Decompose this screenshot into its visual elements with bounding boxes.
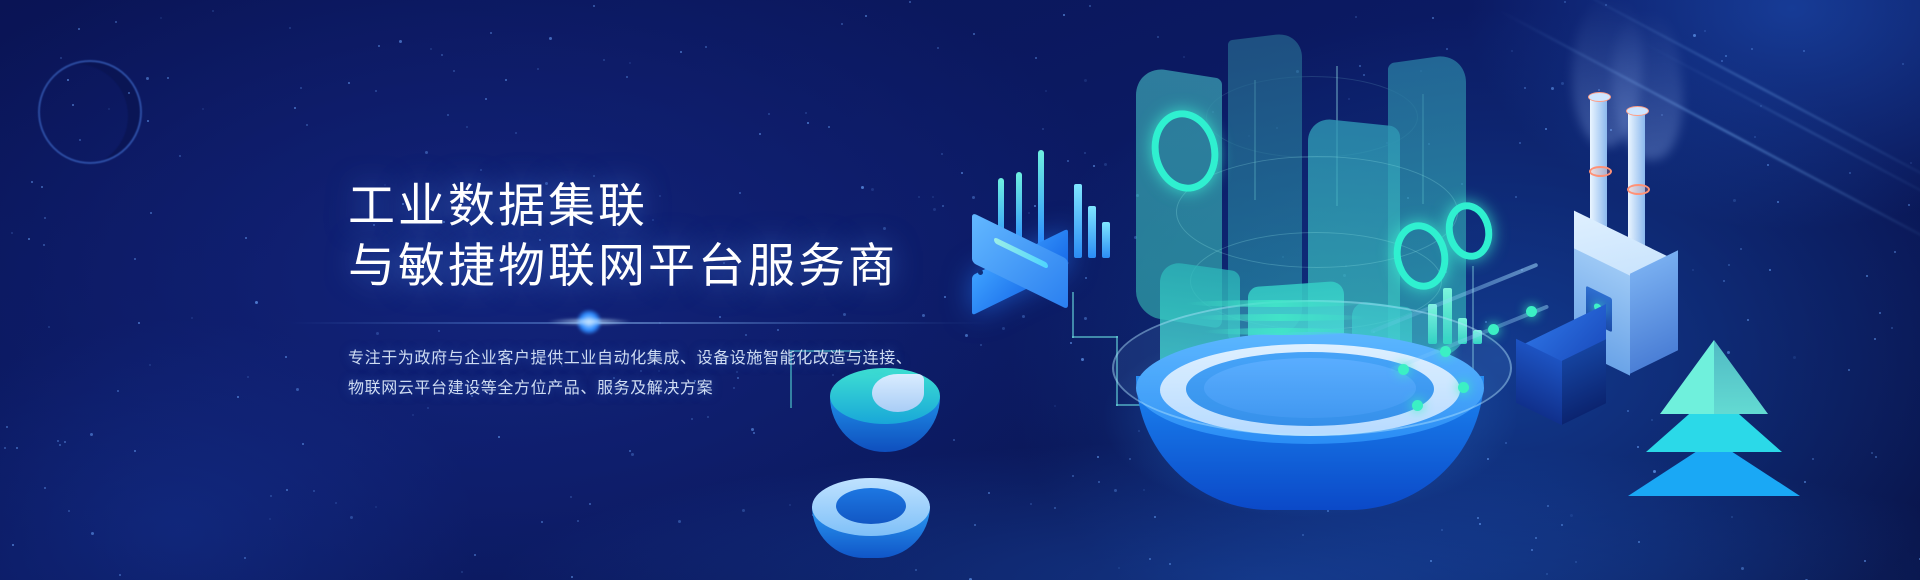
star-dot xyxy=(212,10,214,12)
hologram-line-3 xyxy=(1204,328,1360,335)
beam-node-3-icon xyxy=(1488,324,1499,335)
subtitle-line2: 物联网云平台建设等全方位产品、服务及解决方案 xyxy=(348,374,1048,404)
router-wire-seg2 xyxy=(1072,336,1118,338)
star-dot xyxy=(294,107,296,109)
star-dot xyxy=(937,47,939,49)
isometric-illustration xyxy=(960,0,1920,580)
hero-banner: 工业数据集联 与敏捷物联网平台服务商 专注于为政府与企业客户提供工业自动化集成、… xyxy=(0,0,1920,580)
star-dot xyxy=(167,77,169,79)
star-dot xyxy=(146,77,149,80)
smokestack-cap-2-icon xyxy=(1626,106,1649,116)
star-dot xyxy=(626,76,628,78)
star-dot xyxy=(453,70,455,72)
star-dot xyxy=(300,87,302,89)
star-dot xyxy=(447,114,449,116)
star-dot xyxy=(466,126,468,128)
subtitle-line1: 专注于为政府与企业客户提供工业自动化集成、设备设施智能化改造与连接、 xyxy=(348,344,1048,374)
star-dot xyxy=(549,37,552,40)
star-dot xyxy=(41,186,43,188)
star-dot xyxy=(828,126,830,128)
router-wire-seg1 xyxy=(1072,292,1074,338)
star-dot xyxy=(245,237,247,239)
star-dot xyxy=(160,17,162,19)
star-dot xyxy=(480,169,482,171)
star-dot xyxy=(593,5,595,7)
beam-node-2-icon xyxy=(1440,346,1451,357)
star-dot xyxy=(150,212,152,214)
blue-bar-3 xyxy=(1102,222,1110,258)
star-dot xyxy=(941,153,943,155)
smokestack-cap-1-icon xyxy=(1588,92,1611,102)
star-dot xyxy=(807,122,809,124)
star-dot xyxy=(78,28,80,30)
star-dot xyxy=(425,151,428,154)
blue-bar-1 xyxy=(1074,184,1082,258)
star-dot xyxy=(28,238,30,240)
star-dot xyxy=(629,62,631,64)
crescent-arc-icon xyxy=(38,60,142,164)
star-dot xyxy=(11,232,13,234)
star-dot xyxy=(909,1,911,3)
star-dot xyxy=(485,98,487,100)
star-dot xyxy=(44,217,46,219)
star-dot xyxy=(441,54,443,56)
star-dot xyxy=(202,108,204,110)
star-dot xyxy=(759,133,761,135)
star-dot xyxy=(705,46,707,48)
star-dot xyxy=(505,79,507,81)
star-dot xyxy=(179,155,181,157)
star-dot xyxy=(115,21,117,23)
beam-node-6-icon xyxy=(1458,382,1469,393)
star-dot xyxy=(378,45,380,47)
star-dot xyxy=(805,112,807,114)
beam-node-1-icon xyxy=(1398,364,1409,375)
star-dot xyxy=(768,113,770,115)
beam-node-4-icon xyxy=(1526,306,1537,317)
smokestack-band-2-icon xyxy=(1627,184,1650,195)
star-dot xyxy=(289,27,291,29)
star-dot xyxy=(60,57,62,59)
star-dot xyxy=(490,32,492,34)
hologram-line-1 xyxy=(1186,300,1366,307)
page-title-line1: 工业数据集联 xyxy=(348,176,1048,236)
star-dot xyxy=(430,48,432,50)
smokestack-band-1-icon xyxy=(1589,166,1612,177)
beam-node-5-icon xyxy=(1412,400,1423,411)
star-dot xyxy=(147,120,149,122)
blue-bar-2 xyxy=(1088,206,1096,258)
hologram-line-2 xyxy=(1194,314,1366,321)
star-dot xyxy=(680,51,682,53)
star-dot xyxy=(134,258,136,260)
star-dot xyxy=(537,68,539,70)
glow-diamond-icon xyxy=(571,304,608,341)
star-dot xyxy=(865,15,867,17)
page-title-line2: 与敏捷物联网平台服务商 xyxy=(348,236,1048,296)
star-dot xyxy=(515,132,517,134)
star-dot xyxy=(43,244,45,246)
star-dot xyxy=(348,82,350,84)
ring-cylinder-inner xyxy=(836,488,906,524)
hero-subtitle: 专注于为政府与企业客户提供工业自动化集成、设备设施智能化改造与连接、 物联网云平… xyxy=(348,344,1048,404)
star-dot xyxy=(603,59,605,61)
hero-copy: 工业数据集联 与敏捷物联网平台服务商 专注于为政府与企业客户提供工业自动化集成、… xyxy=(348,176,1048,404)
star-dot xyxy=(306,124,308,126)
star-dot xyxy=(399,40,402,43)
star-dot xyxy=(841,23,843,25)
star-dot xyxy=(375,90,377,92)
star-dot xyxy=(31,181,33,183)
title-divider xyxy=(288,322,988,324)
